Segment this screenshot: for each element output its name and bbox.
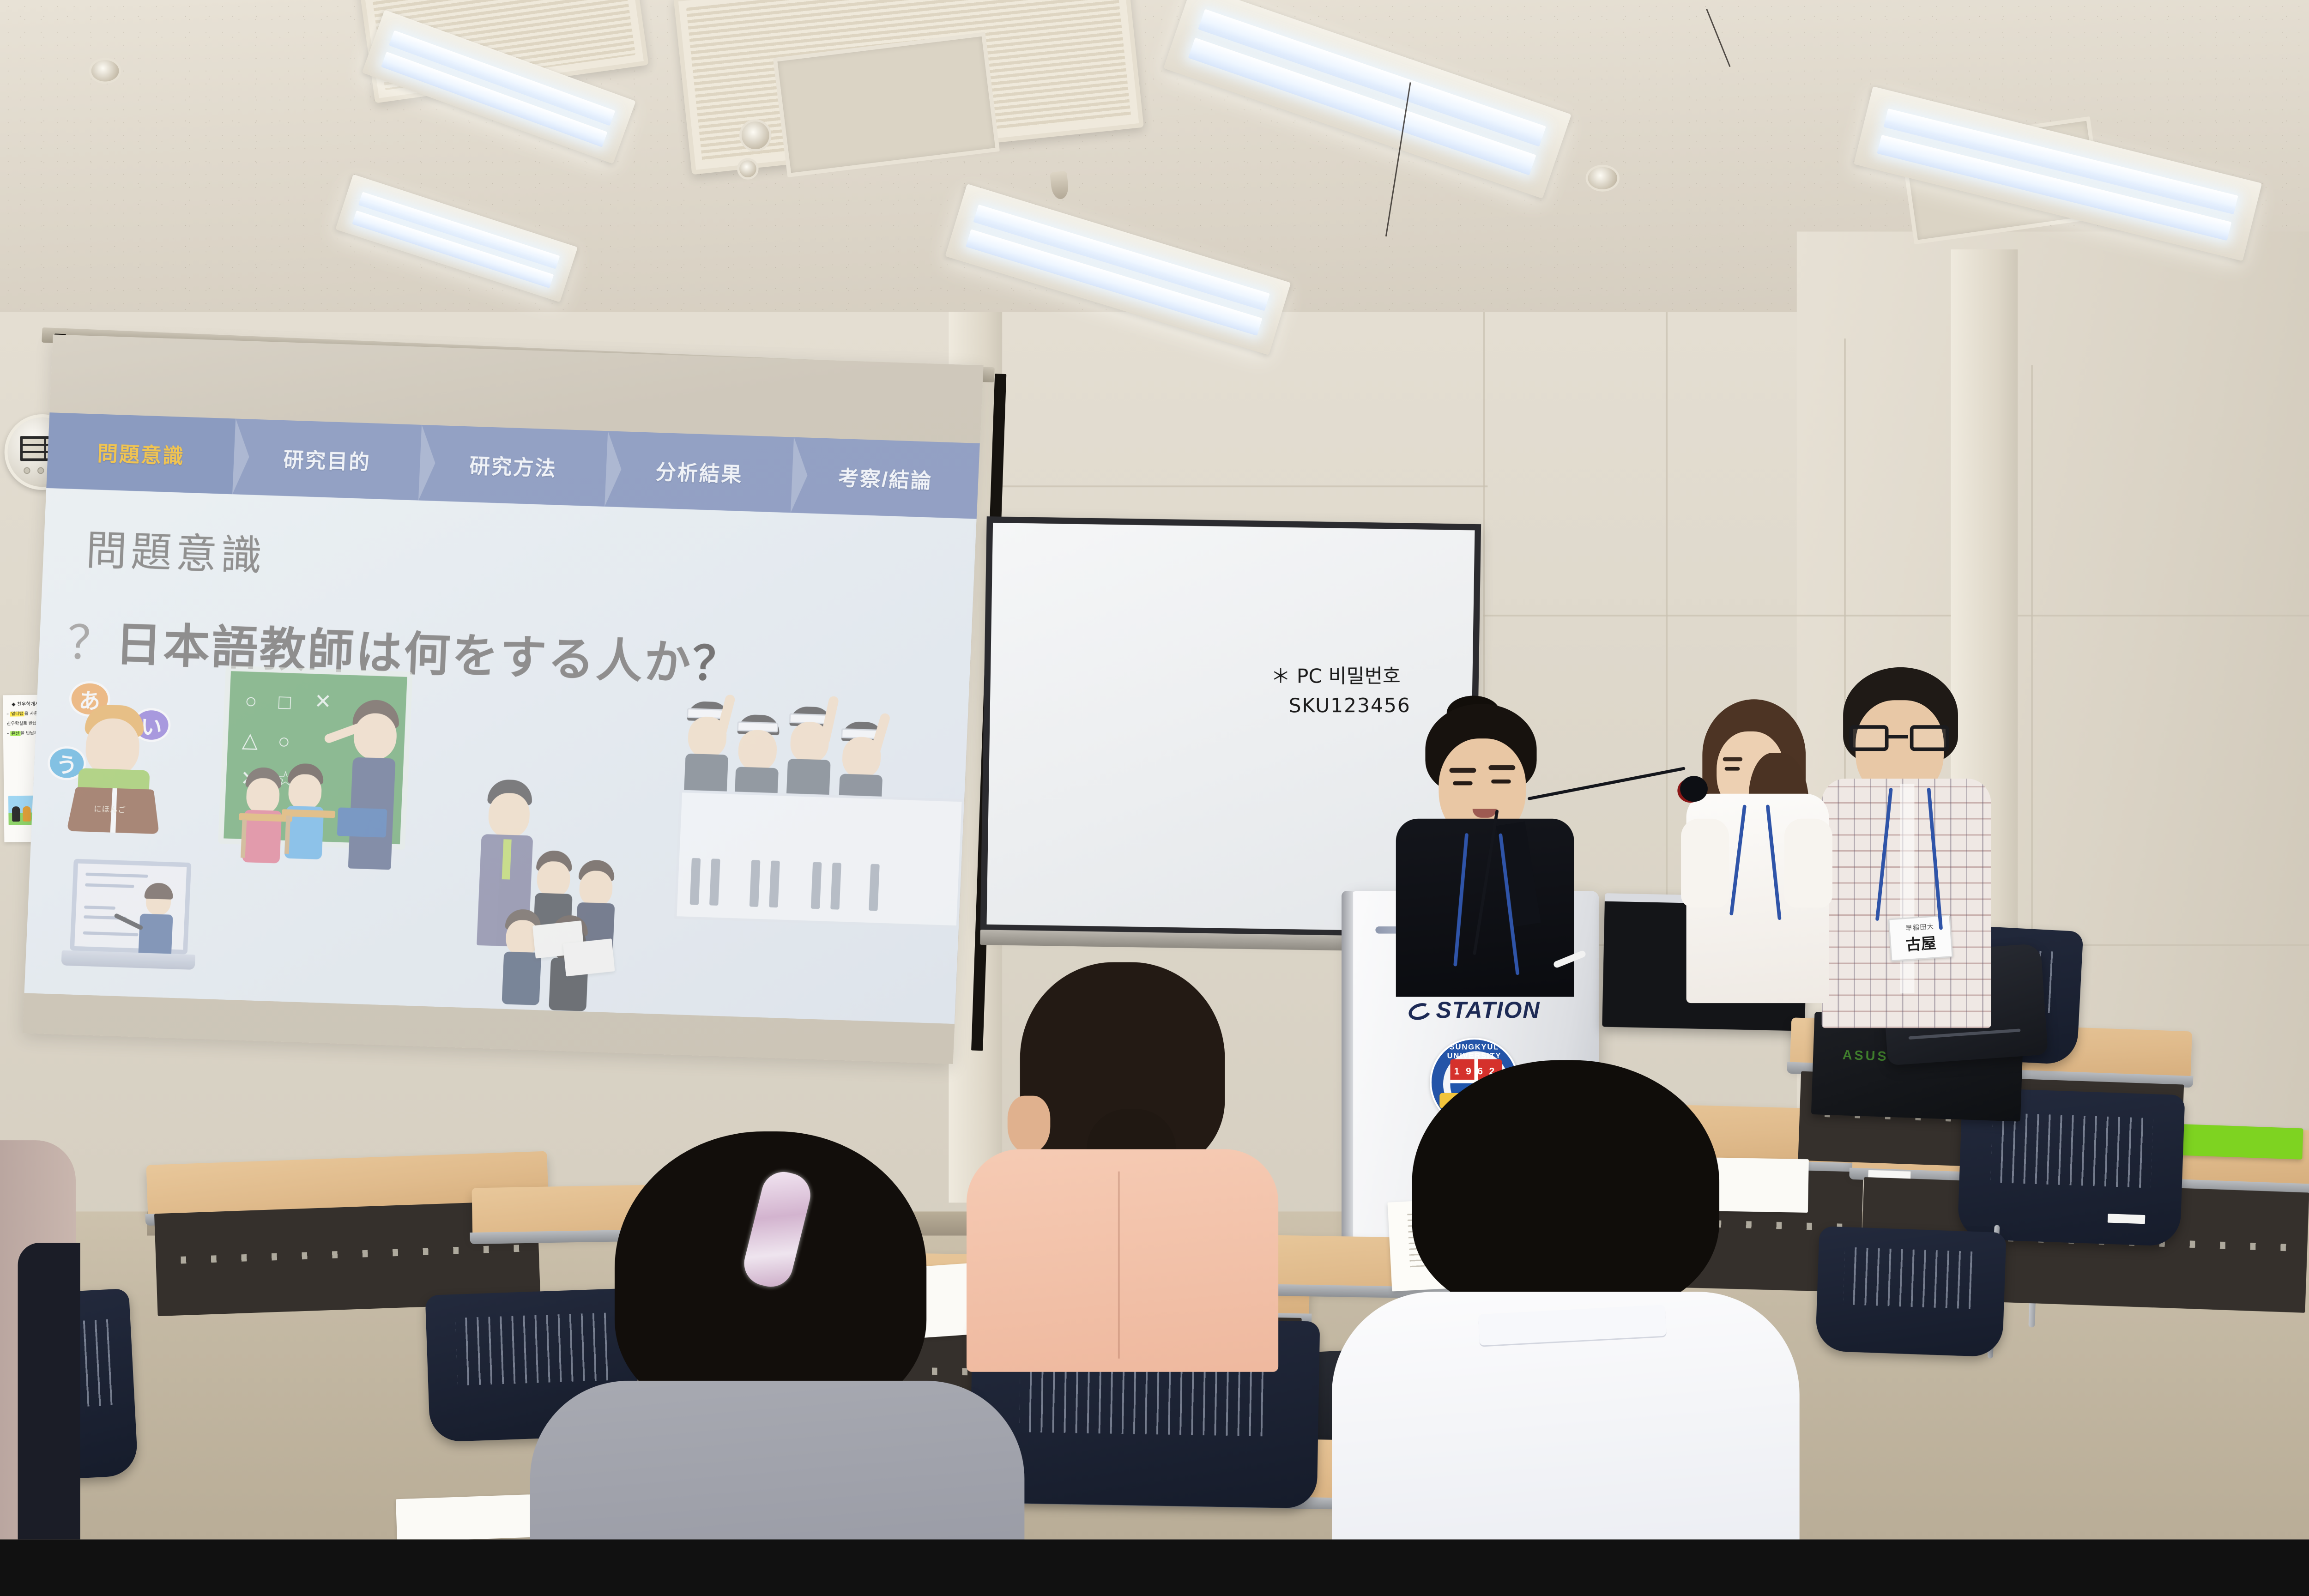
illustration-career-guidance [475,779,648,989]
nav-step-2: 研究目的 [232,418,422,500]
nav-step-1: 問題意識 [46,412,236,494]
badge-name: 古屋 [1905,931,1937,955]
partial-attendee-left-edge [0,1140,76,1539]
standing-attendee-man: 早稲田大 古屋 [1822,667,1991,1041]
standing-woman-sleeve [1784,819,1832,908]
projection-screen-surface: 問題意識 研究目的 研究方法 分析結果 考察/結論 問題意識 [23,334,984,1064]
textbook-label: にほんご [94,803,126,815]
projection-screen-assembly: 問題意識 研究目的 研究方法 分析結果 考察/結論 問題意識 [42,327,996,1045]
blazer-center-seam [1118,1172,1120,1359]
illustration-student-reading: あ い う にほんご [45,680,198,832]
podium-brand-label: STATION [1349,997,1599,1024]
ceiling-downlight [1586,165,1620,192]
wall-seam [997,485,1487,487]
wall-seam [1666,312,1668,980]
e-station-logo-icon [1406,1000,1433,1023]
name-badge: 早稲田大 古屋 [1888,914,1953,961]
standing-man-shirt-placket [1900,784,1915,993]
slide-progress-nav: 問題意識 研究目的 研究方法 分析結果 考察/結論 [46,412,980,519]
laptop-brand-label: ASUS [1842,1048,1889,1064]
illustration-students-banner [675,683,978,907]
nav-step-3: 研究方法 [418,425,608,507]
nav-step-2-label: 研究目的 [283,443,371,476]
wall-seam [1483,615,2309,617]
question-prefix-mark: ？ [66,617,116,670]
illustration-online-lesson-laptop [61,858,199,974]
crest-university-name-en: SUNGKYUL UNIVERSITY [1432,1043,1517,1061]
whiteboard-note-line-1: ＊ PC 비밀번호 [1271,662,1411,691]
lecture-room-photo: ◆ 친우학개서 알립니다 ◆ – 멀티탭을 사용하신 후에는 친우학실로 반납부… [0,0,2309,1539]
grey-jacket [530,1381,1025,1539]
ceiling-downlight [89,58,121,84]
green-notebook [2169,1124,2303,1160]
wall-seam [2031,365,2033,989]
microphone-capsule[interactable] [1680,776,1708,802]
nav-step-1-label: 問題意識 [97,437,185,470]
slide-section-title: 問題意識 [85,517,267,582]
presenter [1376,704,1590,980]
nav-step-4: 分析結果 [604,431,794,513]
nav-step-5: 考察/結論 [791,437,980,519]
classroom-chair[interactable] [1815,1226,2007,1357]
standing-woman-sleeve [1681,819,1729,908]
presentation-slide: 問題意識 研究目的 研究方法 分析結果 考察/結論 問題意識 [24,412,980,1024]
presenter-jacket [1396,819,1574,997]
nav-step-4-label: 分析結果 [655,456,743,488]
ceiling-downlight [737,158,758,179]
notice-highlight-2: 유산 [10,731,20,736]
standing-attendee-woman [1684,699,1831,1038]
eyeglasses-icon [1850,725,1949,753]
nav-step-3-label: 研究方法 [469,449,557,482]
audience-member-white-shirt [1332,1060,1800,1540]
nav-step-5-label: 考察/結論 [838,462,933,494]
ceiling-downlight [739,119,771,151]
audience-member-grey-jacket [503,1131,1029,1539]
white-shirt-attendee-hair [1412,1060,1719,1314]
notice-highlight-1: 멀티탭 [10,712,24,717]
podium-brand-text: STATION [1436,997,1540,1023]
illustration-classroom-teaching: ○ □ ✕ △ ○ ✕ ☆ [212,665,462,883]
